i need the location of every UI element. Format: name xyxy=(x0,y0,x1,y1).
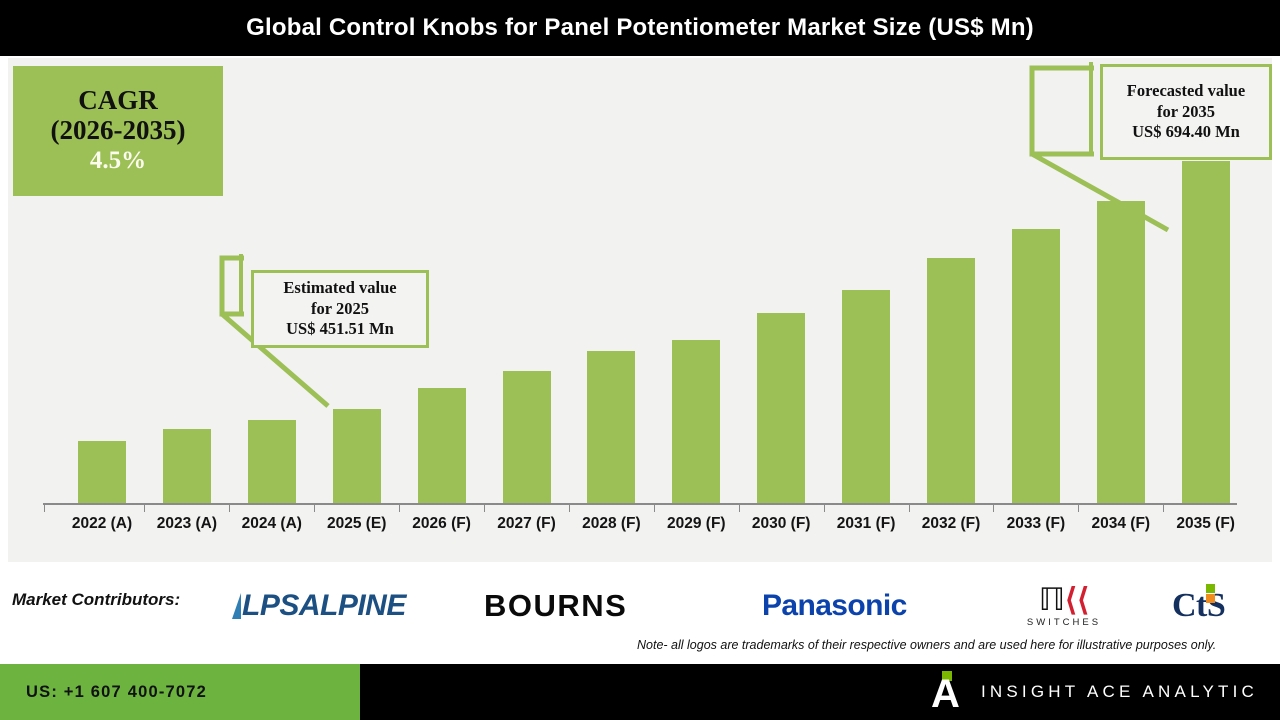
infographic-page: Global Control Knobs for Panel Potentiom… xyxy=(0,0,1280,720)
bar-2022[interactable] xyxy=(78,441,126,503)
logo-cts-wrap: CtS xyxy=(1172,587,1225,625)
brand-letter-a: A xyxy=(931,677,960,711)
bar-2023[interactable] xyxy=(163,429,211,503)
bar-2028[interactable] xyxy=(587,351,635,503)
cts-green-square-icon xyxy=(1206,584,1215,593)
trademark-note: Note- all logos are trademarks of their … xyxy=(637,638,1277,653)
contributors-strip: Market Contributors: LPSALPINE BOURNS Pa… xyxy=(0,566,1280,664)
x-axis-label-2030: 2030 (F) xyxy=(735,515,827,533)
bar-2030[interactable] xyxy=(757,313,805,503)
brand-block: A INSIGHT ACE ANALYTIC xyxy=(931,664,1258,720)
chart-panel: CAGR (2026-2035) 4.5% Estimated value fo… xyxy=(8,58,1272,562)
logo-panasonic-text: Panasonic xyxy=(762,589,907,623)
page-title: Global Control Knobs for Panel Potentiom… xyxy=(246,14,1034,42)
logo-alps-alpine-text: LPSALPINE xyxy=(242,589,406,623)
logo-bourns: BOURNS xyxy=(484,584,694,628)
bar-2027[interactable] xyxy=(503,371,551,503)
bar-2034[interactable] xyxy=(1097,201,1145,503)
x-axis-label-2022: 2022 (A) xyxy=(56,515,148,533)
x-axis-tick xyxy=(314,504,315,512)
x-axis-tick xyxy=(44,504,45,512)
logo-nkk-text: ℿ xyxy=(1039,584,1065,615)
logo-nkk-subtext: SWITCHES xyxy=(1027,617,1101,628)
x-axis-label-2032: 2032 (F) xyxy=(905,515,997,533)
x-axis-tick xyxy=(229,504,230,512)
x-axis-tick xyxy=(1163,504,1164,512)
bar-2029[interactable] xyxy=(672,340,720,503)
x-axis-tick xyxy=(824,504,825,512)
logo-nkk-switches: ℿ ⟨⟨ SWITCHES xyxy=(1006,584,1122,628)
alps-triangle-icon xyxy=(232,593,241,619)
bar-2032[interactable] xyxy=(927,258,975,503)
bar-2035[interactable] xyxy=(1182,161,1230,503)
x-axis-label-2024: 2024 (A) xyxy=(226,515,318,533)
bar-2031[interactable] xyxy=(842,290,890,503)
x-axis-tick xyxy=(144,504,145,512)
footer-phone-number[interactable]: US: +1 607 400-7072 xyxy=(26,683,207,702)
brand-name-text: INSIGHT ACE ANALYTIC xyxy=(981,682,1258,702)
x-axis-label-2034: 2034 (F) xyxy=(1075,515,1167,533)
x-axis-label-2035: 2035 (F) xyxy=(1160,515,1252,533)
x-axis-tick xyxy=(569,504,570,512)
logo-cts-text: CtS xyxy=(1172,587,1225,624)
x-axis-tick xyxy=(399,504,400,512)
bar-plot: 2022 (A)2023 (A)2024 (A)2025 (E)2026 (F)… xyxy=(8,58,1272,562)
footer-bar: US: +1 607 400-7072 A INSIGHT ACE ANALYT… xyxy=(0,664,1280,720)
x-axis-tick xyxy=(993,504,994,512)
bar-2024[interactable] xyxy=(248,420,296,503)
nkk-chevron-icon: ⟨⟨ xyxy=(1065,584,1089,615)
x-axis-label-2033: 2033 (F) xyxy=(990,515,1082,533)
cts-orange-square-icon xyxy=(1206,594,1215,603)
footer-phone-block: US: +1 607 400-7072 xyxy=(0,664,360,720)
x-axis-tick xyxy=(1078,504,1079,512)
x-axis-label-2025: 2025 (E) xyxy=(311,515,403,533)
contributors-label: Market Contributors: xyxy=(12,590,227,610)
x-axis-tick xyxy=(909,504,910,512)
bar-2033[interactable] xyxy=(1012,229,1060,503)
x-axis-label-2028: 2028 (F) xyxy=(565,515,657,533)
x-axis-tick xyxy=(739,504,740,512)
x-axis-tick xyxy=(654,504,655,512)
x-axis-label-2026: 2026 (F) xyxy=(396,515,488,533)
x-axis-label-2029: 2029 (F) xyxy=(650,515,742,533)
x-axis-label-2031: 2031 (F) xyxy=(820,515,912,533)
brand-logo-icon: A xyxy=(931,673,963,711)
logo-panasonic: Panasonic xyxy=(762,584,944,628)
bar-2026[interactable] xyxy=(418,388,466,503)
logo-cts: CtS xyxy=(1172,584,1264,628)
x-axis-label-2023: 2023 (A) xyxy=(141,515,233,533)
title-bar: Global Control Knobs for Panel Potentiom… xyxy=(0,0,1280,56)
logo-alps-alpine: LPSALPINE xyxy=(232,584,438,628)
x-axis-label-2027: 2027 (F) xyxy=(481,515,573,533)
logo-bourns-text: BOURNS xyxy=(484,588,627,624)
x-axis-tick xyxy=(484,504,485,512)
bar-2025[interactable] xyxy=(333,409,381,503)
x-axis-line xyxy=(43,503,1237,505)
logo-nkk-row: ℿ ⟨⟨ xyxy=(1039,584,1090,615)
